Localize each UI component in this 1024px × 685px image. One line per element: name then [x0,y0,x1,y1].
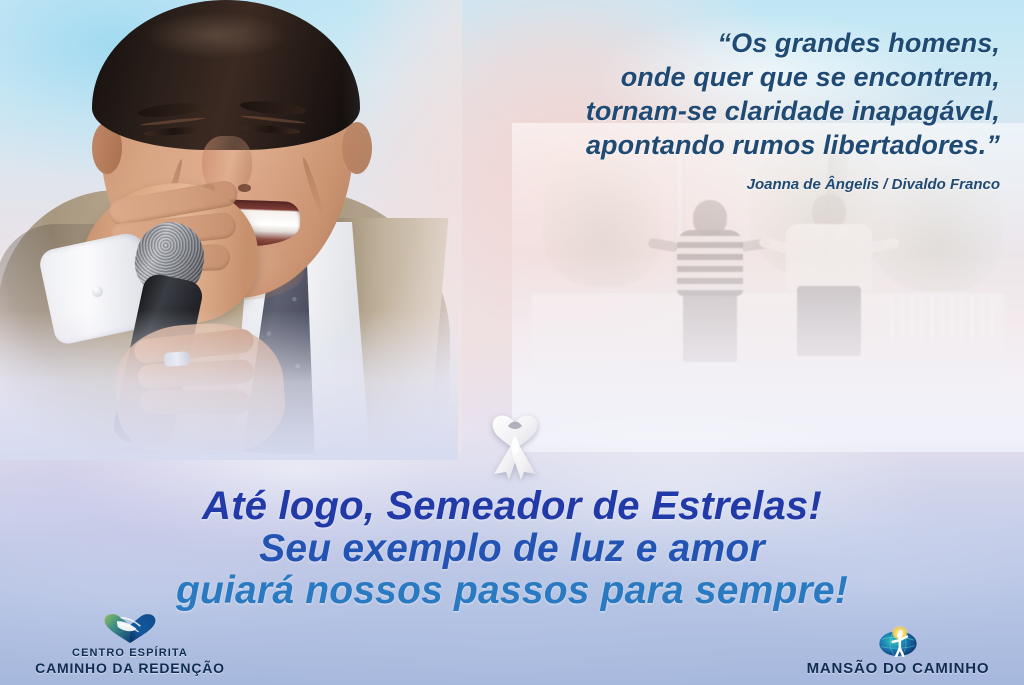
logo-mansao-do-caminho: MANSÃO DO CAMINHO [778,625,1018,677]
memorial-poster: “Os grandes homens, onde quer que se enc… [0,0,1024,685]
logo-left-line-1: CENTRO ESPÍRITA [10,647,250,660]
hair-highlight [146,12,286,58]
globe-torch-figure-icon [778,625,1018,657]
quote-attribution: Joanna de Ângelis / Divaldo Franco [360,176,1000,193]
quote-line-1: “Os grandes homens, [360,26,1000,60]
quote-line-4: apontando rumos libertadores.” [360,128,1000,162]
heart-hands-icon [10,612,250,644]
logo-centro-espirita: CENTRO ESPÍRITA CAMINHO DA REDENÇÃO [10,612,250,677]
headline-line-3: guiará nossos passos para sempre! [0,571,1024,611]
headline-line-1: Até logo, Semeador de Estrelas! [0,486,1024,527]
quote-line-2: onde quer que se encontrem, [360,60,1000,94]
cuff-button [92,286,103,297]
quote-line-3: tornam-se claridade inapagável, [360,94,1000,128]
nostril-right [238,184,251,192]
headline-line-2: Seu exemplo de luz e amor [0,529,1024,569]
logo-left-line-2: CAMINHO DA REDENÇÃO [10,660,250,677]
white-mourning-ribbon-icon [484,406,546,480]
headline-block: Até logo, Semeador de Estrelas! Seu exem… [0,486,1024,612]
logo-right-line-2: MANSÃO DO CAMINHO [778,660,1018,677]
portrait-bottom-fade [0,310,458,460]
quote-block: “Os grandes homens, onde quer que se enc… [360,26,1000,193]
